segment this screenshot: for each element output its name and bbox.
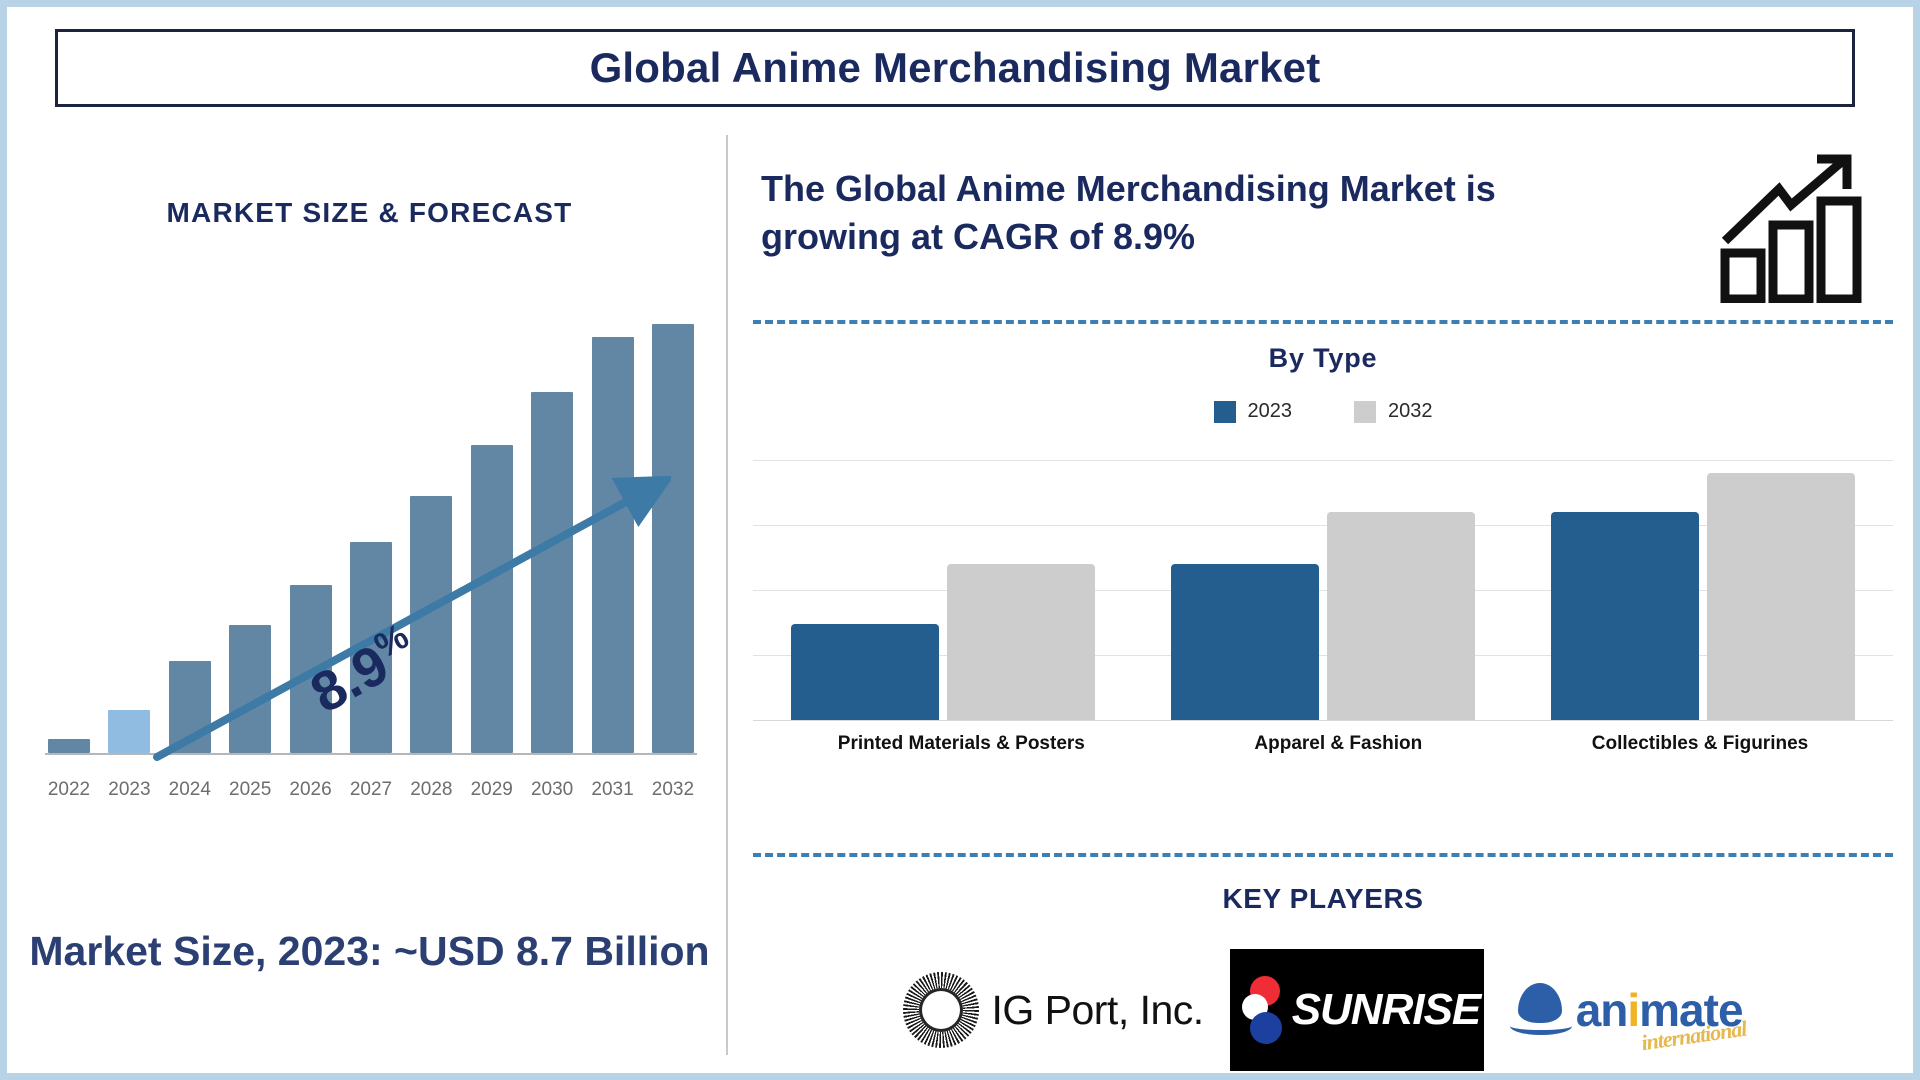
- key-players-logos: IG Port, Inc. SUNRISE animate internatio…: [733, 945, 1913, 1075]
- market-size-bar-slot: [45, 285, 93, 753]
- legend-label: 2023: [1248, 400, 1293, 423]
- market-size-year-labels: 2022202320242025202620272028202920302031…: [45, 779, 697, 801]
- market-size-forecast-heading: MARKET SIZE & FORECAST: [17, 197, 722, 229]
- logo-animate: animate international: [1510, 981, 1743, 1039]
- page-title-box: Global Anime Merchandising Market: [55, 29, 1855, 107]
- by-type-title: By Type: [733, 343, 1913, 374]
- by-type-category-label: Collectibles & Figurines: [1592, 733, 1808, 755]
- market-size-year-label: 2025: [226, 779, 274, 801]
- by-type-bar-2023: [1551, 512, 1699, 720]
- by-type-bar-group: [1171, 460, 1475, 720]
- by-type-category-label: Printed Materials & Posters: [838, 733, 1085, 755]
- market-size-bar: [169, 661, 211, 753]
- market-size-year-label: 2024: [166, 779, 214, 801]
- market-size-year-label: 2030: [528, 779, 576, 801]
- left-panel: MARKET SIZE & FORECAST 20222023202420252…: [17, 135, 722, 1065]
- by-type-bar-group: [1551, 460, 1855, 720]
- right-panel: The Global Anime Merchandising Market is…: [733, 135, 1913, 1065]
- market-size-bar: [410, 496, 452, 753]
- market-size-bar: [471, 445, 513, 753]
- by-type-bar-2032: [947, 564, 1095, 720]
- by-type-baseline: [753, 720, 1893, 721]
- infographic-page: Global Anime Merchandising Market MARKET…: [0, 0, 1920, 1080]
- market-size-bar-slot: [649, 285, 697, 753]
- divider-dashed-top: [753, 320, 1893, 324]
- by-type-bars: [753, 460, 1893, 720]
- market-size-bar: [48, 739, 90, 753]
- market-size-bar-slot: [468, 285, 516, 753]
- ig-port-mark-icon: [903, 972, 979, 1048]
- market-size-value: Market Size, 2023: ~USD 8.7 Billion: [17, 925, 722, 977]
- cagr-headline: The Global Anime Merchandising Market is…: [761, 165, 1641, 260]
- market-size-year-label: 2023: [105, 779, 153, 801]
- market-size-forecast-chart: 2022202320242025202620272028202920302031…: [31, 285, 703, 845]
- legend-item-2032[interactable]: 2032: [1354, 400, 1433, 423]
- by-type-bar-group: [791, 460, 1095, 720]
- market-size-bar-slot: [226, 285, 274, 753]
- market-size-bar-slot: [589, 285, 637, 753]
- animate-wordmark: animate international: [1576, 983, 1743, 1037]
- market-size-bar-slot: [166, 285, 214, 753]
- by-type-legend: 20232032: [733, 400, 1913, 423]
- legend-swatch-icon: [1214, 401, 1236, 423]
- logo-sunrise: SUNRISE: [1230, 949, 1484, 1071]
- by-type-category-label: Apparel & Fashion: [1254, 733, 1422, 755]
- market-size-bar: [108, 710, 150, 753]
- market-size-bar: [652, 324, 694, 753]
- by-type-bar-2023: [791, 624, 939, 720]
- animate-word-part1: an: [1576, 984, 1628, 1036]
- market-size-year-label: 2028: [407, 779, 455, 801]
- market-size-year-label: 2031: [589, 779, 637, 801]
- market-size-bar: [592, 337, 634, 753]
- divider-dashed-bottom: [753, 853, 1893, 857]
- market-size-bar-slot: [528, 285, 576, 753]
- market-size-year-label: 2032: [649, 779, 697, 801]
- market-size-year-label: 2029: [468, 779, 516, 801]
- sunrise-wordmark: SUNRISE: [1292, 985, 1481, 1035]
- market-size-bar: [531, 392, 573, 753]
- by-type-chart: [753, 460, 1893, 720]
- legend-item-2023[interactable]: 2023: [1214, 400, 1293, 423]
- page-title: Global Anime Merchandising Market: [590, 44, 1321, 92]
- logo-ig-port: IG Port, Inc.: [903, 972, 1203, 1048]
- market-size-year-label: 2022: [45, 779, 93, 801]
- by-type-bar-2023: [1171, 564, 1319, 720]
- panel-divider: [726, 135, 728, 1055]
- animate-word-i: i: [1627, 984, 1639, 1036]
- growth-chart-arrow-icon: [1717, 153, 1877, 303]
- market-size-year-label: 2026: [287, 779, 335, 801]
- market-size-bar: [229, 625, 271, 753]
- market-size-bar-slot: [105, 285, 153, 753]
- legend-swatch-icon: [1354, 401, 1376, 423]
- market-size-bar-slot: [407, 285, 455, 753]
- ig-port-wordmark: IG Port, Inc.: [991, 987, 1203, 1034]
- animate-crest-icon: [1510, 981, 1572, 1039]
- legend-label: 2032: [1388, 400, 1433, 423]
- market-size-year-label: 2027: [347, 779, 395, 801]
- by-type-category-labels: Printed Materials & PostersApparel & Fas…: [753, 733, 1893, 755]
- sunrise-dots-icon: [1242, 976, 1286, 1044]
- key-players-title: KEY PLAYERS: [733, 883, 1913, 915]
- by-type-bar-2032: [1707, 473, 1855, 720]
- by-type-bar-2032: [1327, 512, 1475, 720]
- left-chart-axis-line: [45, 753, 697, 755]
